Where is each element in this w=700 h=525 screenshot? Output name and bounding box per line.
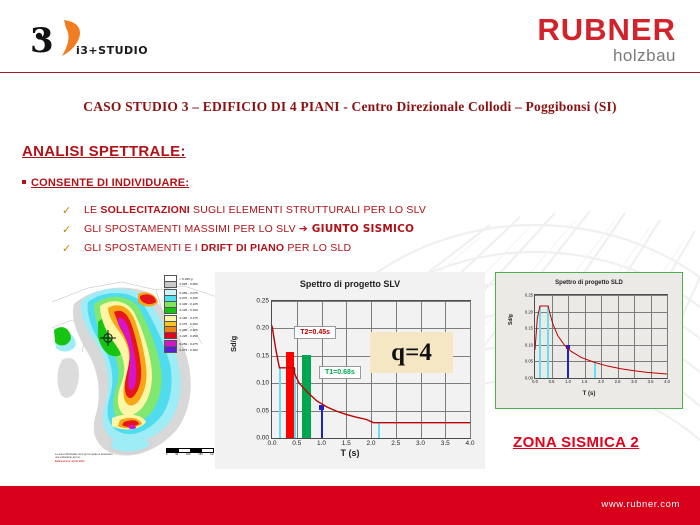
chart-slv-xlabel: T (s)	[215, 448, 485, 458]
chart-sld: Spettro di progetto SLD Sd/g T (s) 0.00.…	[495, 272, 683, 409]
legend-label: 0.125 - 0.150	[180, 308, 198, 312]
i3studio-wordmark: i3+STUDIO	[76, 44, 148, 57]
legend-label: 0.025 - 0.050	[180, 282, 198, 286]
x-tick-label: 3.5	[441, 440, 450, 447]
scale-bar-labels: 050100150km	[166, 453, 214, 456]
footer-url: www.rubner.com	[601, 499, 680, 510]
y-tick-label: 0.05	[525, 359, 533, 364]
slide-footer: www.rubner.com	[0, 486, 700, 525]
chart-sld-xlabel: T (s)	[496, 391, 682, 397]
list-item: ✓ LE SOLLECITAZIONI SUGLI ELEMENTI STRUT…	[62, 204, 492, 217]
x-tick-label: 2.5	[391, 440, 400, 447]
bullet-heading-label: CONSENTE DI INDIVIDUARE:	[31, 177, 189, 189]
x-tick-label: 1.0	[317, 440, 326, 447]
legend-label: 0.250 - 0.275	[180, 342, 198, 346]
scale-label: 0	[166, 453, 167, 456]
list-item-text: LE SOLLECITAZIONI SUGLI ELEMENTI STRUTTU…	[84, 204, 426, 217]
legend-item: 0.275 - 0.300	[164, 347, 216, 352]
y-tick-label: 0.20	[525, 309, 533, 314]
legend-label: 0.150 - 0.175	[180, 316, 198, 320]
map-note: Le aree individuate sono per la quale si…	[55, 453, 113, 464]
scale-label: 150	[198, 453, 202, 456]
slide-header: 3 i3+STUDIO RUBNER holzbau	[0, 0, 700, 72]
list-item-text: GLI SPOSTAMENTI MASSIMI PER LO SLV ➔ GIU…	[84, 223, 414, 236]
chart-sld-title: Spettro di progetto SLD	[496, 280, 682, 286]
x-tick-label: 1.5	[342, 440, 351, 447]
zona-sismica-label: ZONA SISMICA 2	[513, 434, 639, 451]
legend-label: 0.275 - 0.300	[180, 348, 198, 352]
chart-series-svg	[535, 295, 667, 378]
y-tick-label: 0.15	[525, 326, 533, 331]
list-item: ✓ GLI SPOSTAMENTI MASSIMI PER LO SLV ➔ G…	[62, 223, 492, 236]
y-tick-label: 0.05	[256, 407, 269, 414]
y-tick-label: 0.10	[256, 380, 269, 387]
check-icon: ✓	[62, 204, 84, 217]
slide: 3 i3+STUDIO RUBNER holzbau CASO STUDIO 3…	[0, 0, 700, 525]
legend-label: 0.225 - 0.250	[180, 334, 198, 338]
rubner-wordmark: RUBNER	[537, 14, 676, 45]
scale-label: 50	[175, 453, 178, 456]
legend-label: 0.100 - 0.125	[180, 302, 198, 306]
legend-label: 0.200 - 0.225	[180, 328, 198, 332]
chart-slv-title: Spettro di progetto SLV	[215, 279, 485, 289]
y-tick-label: 0.25	[525, 293, 533, 298]
scale-label: 100	[186, 453, 190, 456]
chart-annotation-t2-label: T2=0.45s	[294, 326, 336, 339]
chart-slv-ylabel: Sd/g	[229, 336, 238, 352]
q-factor-badge: q=4	[370, 332, 453, 373]
list-item-text: GLI SPOSTAMENTI E I DRIFT DI PIANO PER L…	[84, 242, 351, 255]
check-icon: ✓	[62, 242, 84, 255]
x-tick-label: 3.5	[648, 379, 654, 384]
chart-sld-plot-area: 0.00.51.01.52.02.53.03.54.00.000.050.100…	[534, 294, 668, 379]
check-icon: ✓	[62, 223, 84, 236]
y-tick-label: 0.00	[256, 435, 269, 442]
legend-item: 0.025 - 0.050	[164, 282, 216, 287]
x-tick-label: 4.0	[664, 379, 670, 384]
legend-label: < 0.025 g	[180, 277, 193, 281]
gridline-vertical	[470, 301, 471, 438]
x-tick-label: 1.5	[582, 379, 588, 384]
x-tick-label: 3.0	[416, 440, 425, 447]
legend-swatch	[164, 346, 177, 353]
x-tick-label: 0.5	[549, 379, 555, 384]
x-tick-label: 1.0	[565, 379, 571, 384]
y-tick-label: 0.15	[256, 352, 269, 359]
bullet-heading: CONSENTE DI INDIVIDUARE:	[22, 177, 189, 189]
x-tick-label: 2.0	[598, 379, 604, 384]
x-tick-label: 2.5	[615, 379, 621, 384]
y-tick-label: 0.25	[256, 298, 269, 305]
rubner-logo: RUBNER holzbau	[537, 14, 676, 64]
y-tick-label: 0.20	[256, 325, 269, 332]
y-tick-label: 0.10	[525, 342, 533, 347]
legend-item: 0.125 - 0.150	[164, 307, 216, 312]
x-tick-label: 2.0	[366, 440, 375, 447]
legend-swatch	[164, 281, 177, 288]
legend-swatch	[164, 307, 177, 314]
section-title: ANALISI SPETTRALE:	[22, 143, 186, 160]
legend-label: 0.050 - 0.075	[180, 291, 198, 295]
chart-sld-ylabel: Sd/g	[508, 314, 514, 325]
x-tick-label: 3.0	[631, 379, 637, 384]
gridline-vertical	[667, 295, 668, 378]
italy-seismic-hazard-map: < 0.025 g0.025 - 0.0500.050 - 0.0750.075…	[52, 268, 220, 468]
map-scale-bar: 050100150km	[166, 448, 214, 456]
checklist: ✓ LE SOLLECITAZIONI SUGLI ELEMENTI STRUT…	[62, 204, 492, 262]
rubner-subbrand: holzbau	[537, 47, 676, 64]
map-legend: < 0.025 g0.025 - 0.0500.050 - 0.0750.075…	[164, 276, 216, 353]
i3studio-logo: 3 i3+STUDIO	[24, 16, 144, 62]
legend-item: 0.225 - 0.250	[164, 333, 216, 338]
legend-swatch	[164, 332, 177, 339]
scale-label: km	[211, 453, 214, 456]
legend-label: 0.075 - 0.100	[180, 296, 198, 300]
x-tick-label: 0.5	[292, 440, 301, 447]
list-item: ✓ GLI SPOSTAMENTI E I DRIFT DI PIANO PER…	[62, 242, 492, 255]
chart-annotation-t1-label: T1=0.68s	[319, 366, 361, 379]
y-tick-label: 0.00	[525, 376, 533, 381]
header-divider	[0, 72, 700, 73]
legend-label: 0.175 - 0.200	[180, 322, 198, 326]
x-tick-label: 4.0	[465, 440, 474, 447]
square-bullet-icon	[22, 180, 26, 184]
case-study-title: CASO STUDIO 3 – EDIFICIO DI 4 PIANI - Ce…	[0, 99, 700, 115]
svg-text:3: 3	[30, 21, 54, 60]
